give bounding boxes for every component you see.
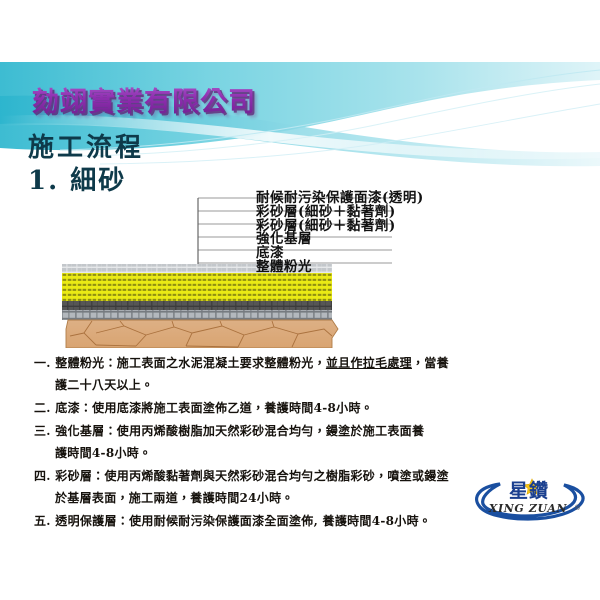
procedure-step-text: 於基層表面，施工兩道，養護時間24小時。 <box>55 491 294 505</box>
heading-construction-process: 施工流程 <box>28 127 144 164</box>
procedure-step-line: 護二十八天以上。 <box>34 374 574 396</box>
procedure-step-line: 二. 底漆：使用底漆將施工表面塗佈乙道，養護時間4-8小時。 <box>34 397 574 419</box>
logo-registered-mark: ® <box>574 504 581 512</box>
presentation-slide: 劾翊實業有限公司 劾翊實業有限公司 施工流程 1. 細砂 <box>0 0 600 600</box>
logo-cjk-text: 星鑽 <box>492 482 566 501</box>
company-title: 劾翊實業有限公司 <box>32 80 256 119</box>
procedure-step-text: 護時間4-8小時。 <box>55 446 151 460</box>
procedure-step-line: 一. 整體粉光：施工表面之水泥混凝土要求整體粉光，並且作拉毛處理，當養 <box>34 352 574 374</box>
callout-label-list: 耐候耐污染保護面漆(透明) 彩砂層(細砂＋黏著劑) 彩砂層(細砂＋黏著劑) 強化… <box>256 192 424 275</box>
logo-latin-text: XING ZUAN <box>480 503 576 515</box>
callout-label-5: 整體粉光 <box>256 261 424 275</box>
layer-primer <box>62 310 332 320</box>
procedure-step-emphasis: 並且作拉毛處理 <box>326 356 412 370</box>
procedure-step-text: 護二十八天以上。 <box>55 378 153 392</box>
procedure-step-number: 二. <box>34 401 55 415</box>
layer-color-sand-lower <box>62 288 332 301</box>
procedure-step-number: 四. <box>34 469 55 483</box>
procedure-step-text: 彩砂層：使用丙烯酸黏著劑與天然彩砂混合均勻之樹脂彩砂，噴塗或鏝塗 <box>55 469 449 483</box>
procedure-step-number: 一. <box>34 356 55 370</box>
procedure-step: 一. 整體粉光：施工表面之水泥混凝土要求整體粉光，並且作拉毛處理，當養護二十八天… <box>34 352 574 396</box>
procedure-step: 三. 強化基層：使用丙烯酸樹脂加天然彩砂混合均勻，鏝塗於施工表面養護時間4-8小… <box>34 420 574 464</box>
heading-fine-sand: 1. 細砂 <box>28 160 126 197</box>
layer-color-sand-upper <box>62 273 332 288</box>
procedure-step-number: 五. <box>34 514 55 528</box>
procedure-step-text: ，當養 <box>412 356 449 370</box>
procedure-step-number: 三. <box>34 424 55 438</box>
layer-reinforced-base <box>62 301 332 310</box>
procedure-step-line: 三. 強化基層：使用丙烯酸樹脂加天然彩砂混合均勻，鏝塗於施工表面養 <box>34 420 574 442</box>
brand-logo: 星鑽 XING ZUAN ® <box>470 478 588 524</box>
procedure-step-line: 護時間4-8小時。 <box>34 442 574 464</box>
procedure-step-text: 整體粉光：施工表面之水泥混凝土要求整體粉光， <box>55 356 326 370</box>
layer-concrete-substrate <box>66 320 338 348</box>
procedure-step-text: 底漆：使用底漆將施工表面塗佈乙道，養護時間4-8小時。 <box>55 401 373 415</box>
procedure-step-text: 透明保護層：使用耐候耐污染保護面漆全面塗佈, 養護時間4-8小時。 <box>55 514 431 528</box>
procedure-step: 二. 底漆：使用底漆將施工表面塗佈乙道，養護時間4-8小時。 <box>34 397 574 419</box>
procedure-step-text: 強化基層：使用丙烯酸樹脂加天然彩砂混合均勻，鏝塗於施工表面養 <box>55 424 424 438</box>
